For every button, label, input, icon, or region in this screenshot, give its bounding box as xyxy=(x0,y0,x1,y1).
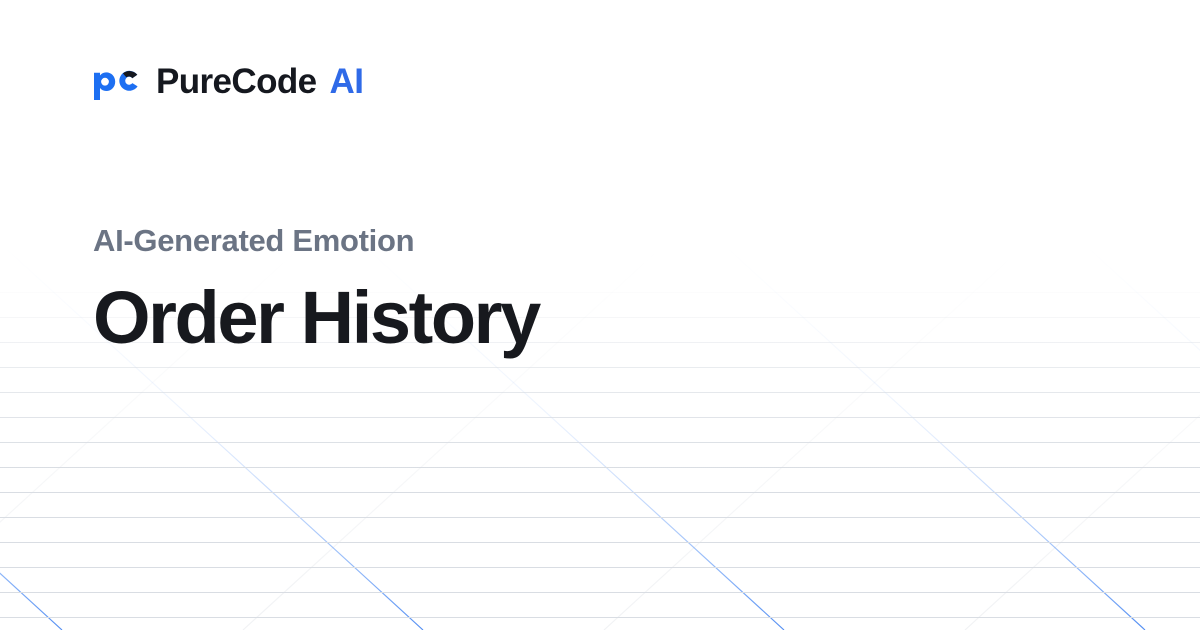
brand-wordmark: PureCode AI xyxy=(156,64,363,99)
brand-logo-lockup[interactable]: PureCode AI xyxy=(93,61,363,101)
brand-wordmark-primary: PureCode xyxy=(156,64,317,99)
purecode-pc-monogram-icon xyxy=(93,61,139,101)
brand-wordmark-accent: AI xyxy=(330,64,364,99)
hero-text-block: AI-Generated Emotion Order History xyxy=(93,224,539,356)
og-card: PureCode AI AI-Generated Emotion Order H… xyxy=(0,0,1200,630)
page-title: Order History xyxy=(93,280,539,355)
hero-eyebrow: AI-Generated Emotion xyxy=(93,224,539,258)
